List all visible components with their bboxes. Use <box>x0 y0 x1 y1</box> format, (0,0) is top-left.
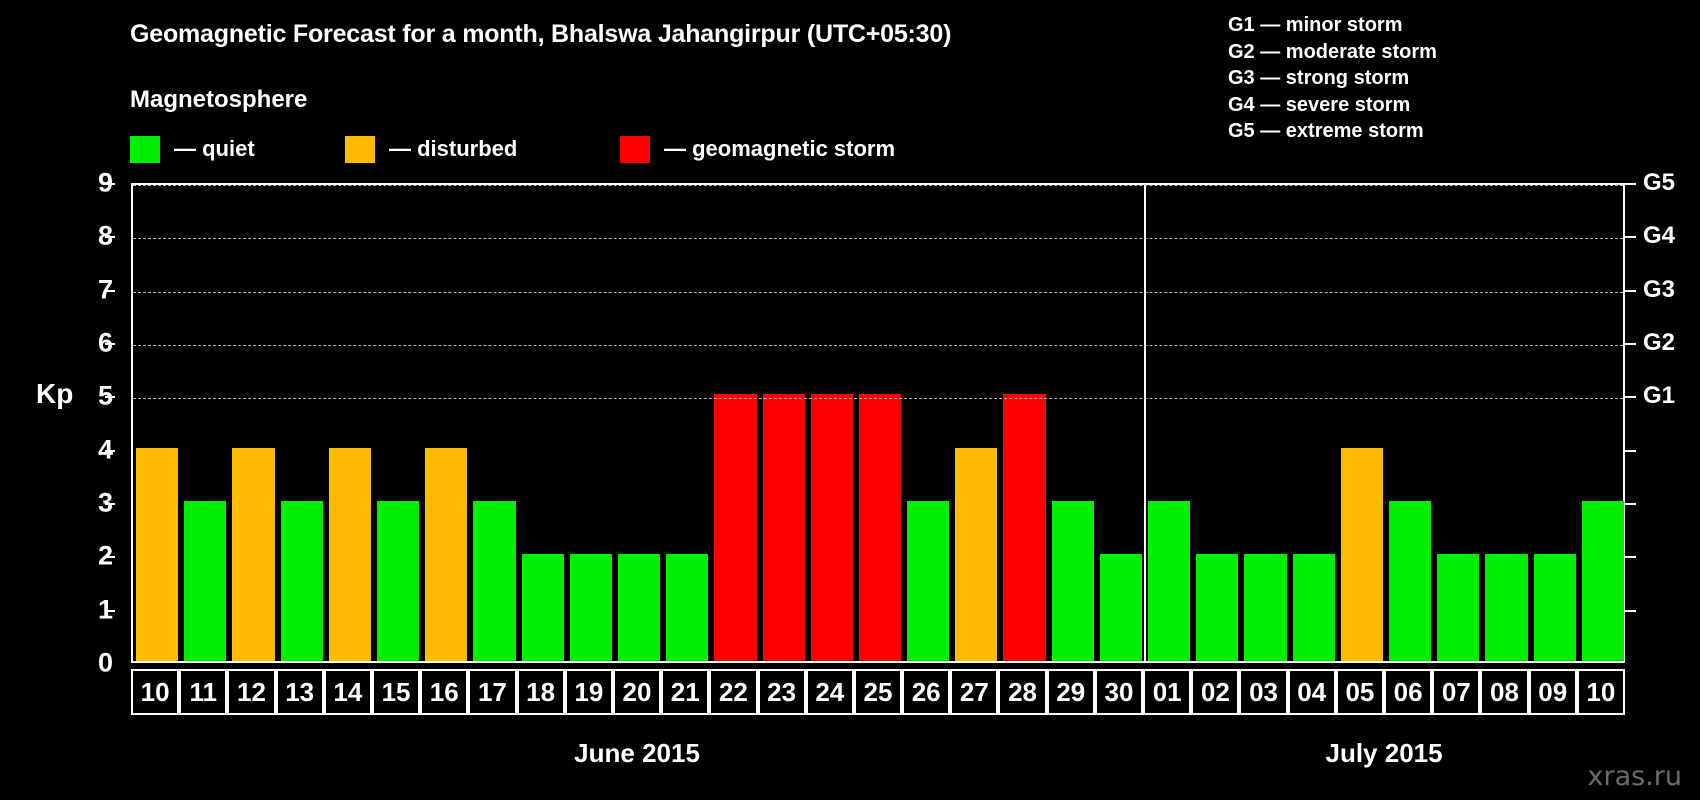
bar-july-08[interactable] <box>1485 554 1527 661</box>
g-tick-label-g3: G3 <box>1643 278 1675 302</box>
month-divider <box>1144 185 1146 661</box>
y-tick-mark-2 <box>105 556 115 558</box>
date-cell-june-28[interactable]: 28 <box>998 669 1046 715</box>
g-tick-label-g4: G4 <box>1643 224 1675 248</box>
bar-june-30[interactable] <box>1100 554 1142 661</box>
date-cell-july-06[interactable]: 06 <box>1384 669 1432 715</box>
legend-label-quiet: — quiet <box>174 136 255 162</box>
g-scale-item-g5: G5 — extreme storm <box>1228 118 1437 145</box>
bar-june-24[interactable] <box>811 394 853 661</box>
date-cell-june-15[interactable]: 15 <box>372 669 420 715</box>
bar-july-05[interactable] <box>1341 448 1383 661</box>
gridline-kp-5 <box>133 398 1623 399</box>
date-cell-june-13[interactable]: 13 <box>276 669 324 715</box>
date-cell-july-10[interactable]: 10 <box>1577 669 1625 715</box>
bar-july-10[interactable] <box>1582 501 1624 661</box>
y-right-tick-mark-4 <box>1625 450 1636 452</box>
bar-june-10[interactable] <box>136 448 178 661</box>
gridline-kp-6 <box>133 345 1623 346</box>
y-right-tick-mark-2 <box>1625 556 1636 558</box>
g-tick-label-g1: G1 <box>1643 384 1675 408</box>
bar-july-03[interactable] <box>1244 554 1286 661</box>
date-cell-june-14[interactable]: 14 <box>324 669 372 715</box>
page-title: Geomagnetic Forecast for a month, Bhalsw… <box>130 20 951 49</box>
date-cell-july-07[interactable]: 07 <box>1432 669 1480 715</box>
date-cell-june-22[interactable]: 22 <box>709 669 757 715</box>
geomagnetic-forecast-chart: Geomagnetic Forecast for a month, Bhalsw… <box>0 0 1700 800</box>
month-label-june: June 2015 <box>574 738 700 769</box>
bar-june-17[interactable] <box>473 501 515 661</box>
legend-swatch-quiet <box>130 136 160 163</box>
date-cell-june-24[interactable]: 24 <box>806 669 854 715</box>
y-right-tick-mark-1 <box>1625 610 1636 612</box>
bar-june-18[interactable] <box>522 554 564 661</box>
y-axis-right-gscale: G1G2G3G4G5 <box>1625 183 1695 663</box>
bar-june-19[interactable] <box>570 554 612 661</box>
date-cell-june-25[interactable]: 25 <box>854 669 902 715</box>
bar-june-29[interactable] <box>1052 501 1094 661</box>
date-cell-june-30[interactable]: 30 <box>1095 669 1143 715</box>
bar-june-15[interactable] <box>377 501 419 661</box>
bar-july-01[interactable] <box>1148 501 1190 661</box>
g-scale-item-g1: G1 — minor storm <box>1228 12 1437 39</box>
bar-june-25[interactable] <box>859 394 901 661</box>
watermark: xras.ru <box>1588 761 1683 792</box>
legend-swatch-disturbed <box>345 136 375 163</box>
bar-june-23[interactable] <box>763 394 805 661</box>
legend-item-quiet: — quiet <box>130 134 255 164</box>
date-cell-june-19[interactable]: 19 <box>565 669 613 715</box>
bar-june-28[interactable] <box>1003 394 1045 661</box>
date-cell-june-29[interactable]: 29 <box>1047 669 1095 715</box>
bar-july-09[interactable] <box>1534 554 1576 661</box>
bar-june-11[interactable] <box>184 501 226 661</box>
date-cell-june-11[interactable]: 11 <box>179 669 227 715</box>
date-cell-june-20[interactable]: 20 <box>613 669 661 715</box>
bar-june-14[interactable] <box>329 448 371 661</box>
bar-june-13[interactable] <box>281 501 323 661</box>
date-cell-june-17[interactable]: 17 <box>468 669 516 715</box>
y-right-tick-mark-8 <box>1625 236 1636 238</box>
y-right-tick-mark-9 <box>1625 183 1636 185</box>
y-tick-label-0: 0 <box>98 650 113 677</box>
date-cell-july-02[interactable]: 02 <box>1191 669 1239 715</box>
g-scale-item-g3: G3 — strong storm <box>1228 65 1437 92</box>
bar-june-12[interactable] <box>232 448 274 661</box>
y-tick-mark-6 <box>105 343 115 345</box>
legend-item-disturbed: — disturbed <box>345 134 517 164</box>
gridline-kp-7 <box>133 292 1623 293</box>
y-tick-mark-1 <box>105 610 115 612</box>
y-tick-mark-5 <box>105 396 115 398</box>
y-tick-mark-3 <box>105 503 115 505</box>
legend-label-disturbed: — disturbed <box>389 136 517 162</box>
month-label-july: July 2015 <box>1325 738 1442 769</box>
y-tick-mark-9 <box>105 183 115 185</box>
date-cell-june-16[interactable]: 16 <box>420 669 468 715</box>
date-axis: 1011121314151617181920212223242526272829… <box>131 669 1625 715</box>
y-tick-mark-4 <box>105 450 115 452</box>
legend-item-storm: — geomagnetic storm <box>620 134 895 164</box>
date-cell-july-05[interactable]: 05 <box>1336 669 1384 715</box>
g-tick-label-g5: G5 <box>1643 171 1675 195</box>
legend-swatch-storm <box>620 136 650 163</box>
bar-july-04[interactable] <box>1293 554 1335 661</box>
y-tick-mark-7 <box>105 290 115 292</box>
g-scale-item-g2: G2 — moderate storm <box>1228 39 1437 66</box>
y-tick-mark-8 <box>105 236 115 238</box>
y-right-tick-mark-6 <box>1625 343 1636 345</box>
plot-inner <box>133 185 1623 661</box>
date-cell-june-21[interactable]: 21 <box>661 669 709 715</box>
y-axis-left: 0123456789 <box>55 183 113 663</box>
bar-june-22[interactable] <box>714 394 756 661</box>
g-scale-legend: G1 — minor stormG2 — moderate stormG3 — … <box>1228 12 1437 145</box>
date-cell-july-03[interactable]: 03 <box>1239 669 1287 715</box>
date-cell-july-09[interactable]: 09 <box>1529 669 1577 715</box>
date-cell-june-10[interactable]: 10 <box>131 669 179 715</box>
plot-area <box>131 183 1625 663</box>
date-cell-july-01[interactable]: 01 <box>1143 669 1191 715</box>
bar-july-07[interactable] <box>1437 554 1479 661</box>
legend-label-storm: — geomagnetic storm <box>664 136 895 162</box>
date-cell-june-12[interactable]: 12 <box>227 669 275 715</box>
g-scale-item-g4: G4 — severe storm <box>1228 92 1437 119</box>
date-cell-june-27[interactable]: 27 <box>950 669 998 715</box>
magnetosphere-heading: Magnetosphere <box>130 86 307 114</box>
bar-series <box>133 185 1623 661</box>
date-cell-july-04[interactable]: 04 <box>1288 669 1336 715</box>
date-cell-june-18[interactable]: 18 <box>517 669 565 715</box>
bar-june-26[interactable] <box>907 501 949 661</box>
y-right-tick-mark-7 <box>1625 290 1636 292</box>
bar-june-21[interactable] <box>666 554 708 661</box>
bar-july-02[interactable] <box>1196 554 1238 661</box>
bar-june-20[interactable] <box>618 554 660 661</box>
date-cell-june-26[interactable]: 26 <box>902 669 950 715</box>
y-right-tick-mark-5 <box>1625 396 1636 398</box>
gridline-kp-9 <box>133 185 1623 186</box>
g-tick-label-g2: G2 <box>1643 331 1675 355</box>
bar-june-16[interactable] <box>425 448 467 661</box>
gridline-kp-8 <box>133 238 1623 239</box>
bar-july-06[interactable] <box>1389 501 1431 661</box>
bar-june-27[interactable] <box>955 448 997 661</box>
date-cell-july-08[interactable]: 08 <box>1480 669 1528 715</box>
date-cell-june-23[interactable]: 23 <box>758 669 806 715</box>
y-right-tick-mark-3 <box>1625 503 1636 505</box>
